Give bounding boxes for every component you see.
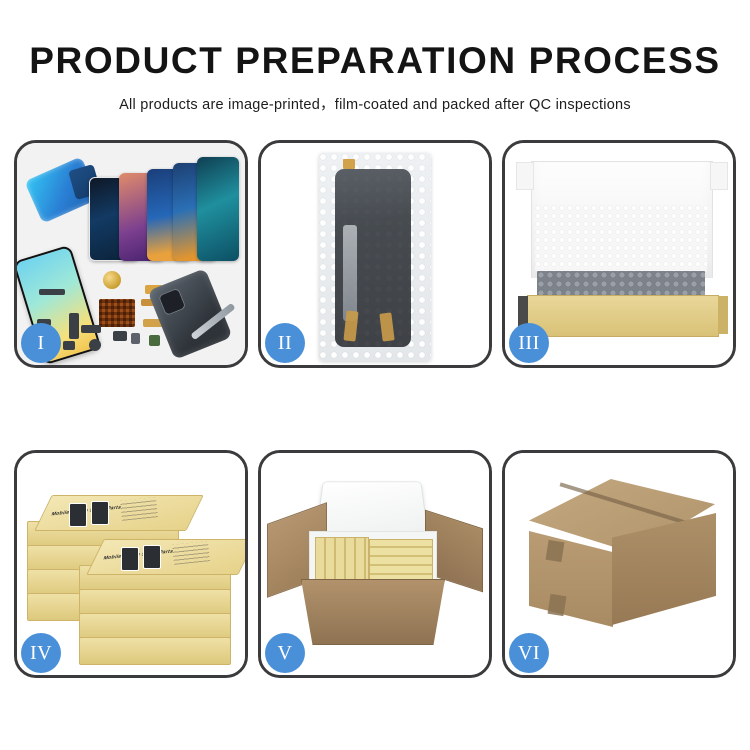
step-badge-5: V [265, 633, 305, 673]
process-step-panel-3: III [502, 140, 736, 368]
header: PRODUCT PREPARATION PROCESS All products… [0, 42, 750, 114]
bubble-wrap-bag-icon [319, 153, 431, 361]
spare-part-icon [131, 333, 140, 344]
phone-screen-icon [197, 157, 239, 261]
copper-coil-icon [103, 271, 121, 289]
infographic-page: PRODUCT PREPARATION PROCESS All products… [0, 0, 750, 750]
foam-sheet-icon [535, 205, 707, 271]
step-badge-4: IV [21, 633, 61, 673]
carton-face-left-icon [529, 531, 613, 627]
retail-box-lid-icon: Mobile Phone Spare Parts [86, 539, 245, 575]
phone-screen-fan [89, 151, 239, 261]
packed-box-group-icon [369, 539, 433, 583]
spare-part-icon [81, 325, 101, 333]
box-spec-lines [120, 497, 158, 521]
box-window-icon [69, 503, 87, 527]
carton-tape-icon [548, 594, 567, 616]
process-step-panel-1: I [14, 140, 248, 368]
box-window-icon [121, 547, 139, 571]
retail-box-icon [79, 637, 231, 665]
carton-body-icon [301, 579, 445, 645]
step-badge-6: VI [509, 633, 549, 673]
packed-box-group-icon [315, 537, 369, 583]
spare-part-icon [69, 313, 79, 339]
circuit-board-icon [99, 299, 135, 327]
page-subtitle: All products are image-printed，film-coat… [0, 93, 750, 114]
box-window-icon [91, 501, 109, 525]
process-step-panel-2: II [258, 140, 492, 368]
spare-part-icon [39, 289, 65, 295]
step-badge-1: I [21, 323, 61, 363]
spare-part-icon [63, 341, 75, 350]
spare-part-icon [113, 331, 127, 341]
box-window-icon [143, 545, 161, 569]
flex-ribbon-icon [343, 225, 357, 321]
box-spec-lines [172, 541, 210, 565]
process-step-panel-5: V [258, 450, 492, 678]
process-step-panel-6: VI [502, 450, 736, 678]
process-step-panel-4: Mobile Phone Spare Parts Mobile Phone Sp… [14, 450, 248, 678]
spare-part-icon [89, 339, 101, 351]
yellow-box-base-icon [527, 295, 719, 337]
carton-tape-icon [546, 540, 565, 562]
step-badge-2: II [265, 323, 305, 363]
process-step-grid: I II III [14, 140, 736, 678]
tape-tab-icon [343, 159, 355, 169]
page-title: PRODUCT PREPARATION PROCESS [0, 42, 750, 81]
step-badge-3: III [509, 323, 549, 363]
spare-part-icon [149, 335, 160, 346]
